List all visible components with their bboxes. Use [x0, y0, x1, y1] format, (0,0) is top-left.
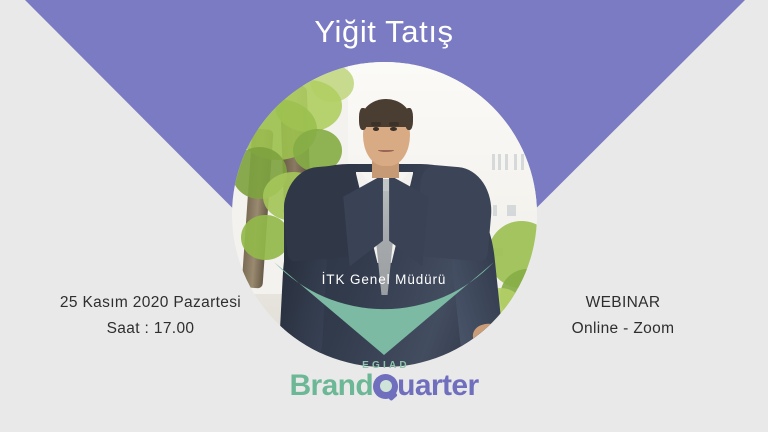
logo-wordmark: Branduarter [0, 369, 768, 403]
eyebrow-left [371, 122, 381, 125]
brandquarter-logo: EGIAD Branduarter [0, 360, 768, 403]
event-date: 25 Kasım 2020 Pazartesi [18, 290, 283, 316]
event-datetime-block: 25 Kasım 2020 Pazartesi Saat : 17.00 [18, 290, 283, 342]
event-format-block: WEBINAR Online - Zoom [498, 290, 748, 342]
hair [361, 99, 411, 126]
logo-quarter-text: uarter [397, 369, 478, 402]
role-badge: İTK Genel Müdürü [0, 272, 768, 287]
event-time: Saat : 17.00 [18, 316, 283, 342]
speaker-name: Yiğit Tatış [0, 14, 768, 50]
logo-brand-text: Brand [289, 369, 373, 402]
logo-q-icon [373, 374, 398, 399]
webinar-announcement-poster: İTK Genel Müdürü Yiğit Tatış 25 Kasım 20… [0, 0, 768, 432]
eyebrow-right [389, 122, 399, 125]
event-type: WEBINAR [498, 290, 748, 316]
event-platform: Online - Zoom [498, 316, 748, 342]
